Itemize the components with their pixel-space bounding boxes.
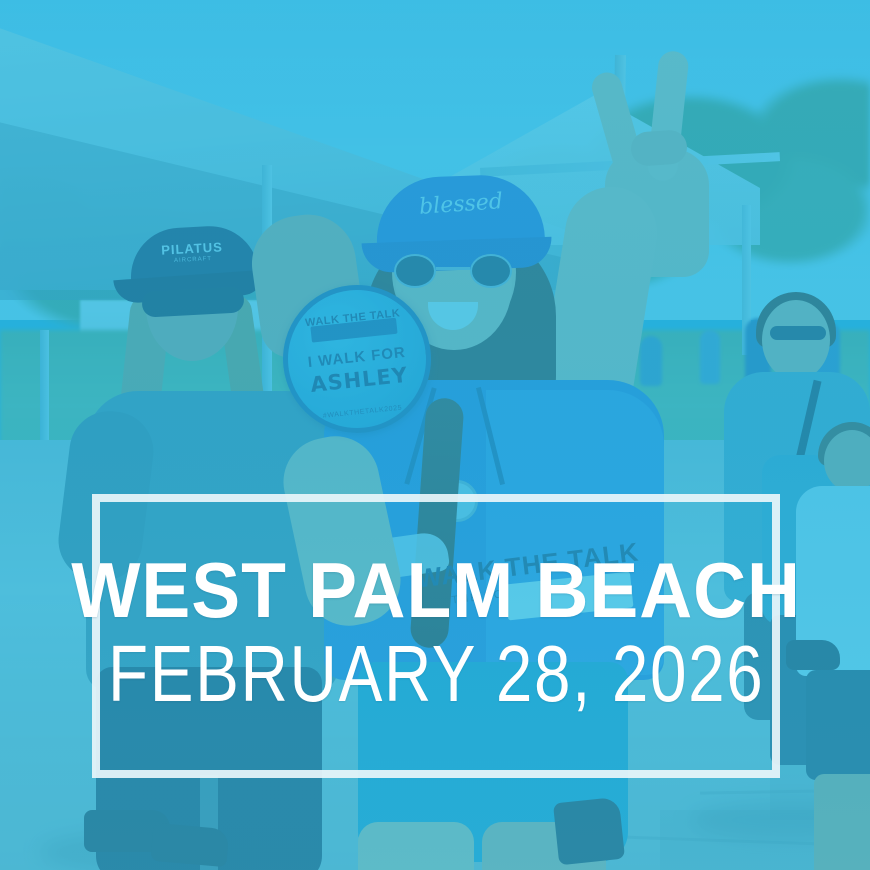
- event-promo-card: PILATUS AIRCRAFT blessed: [0, 0, 870, 870]
- event-banner-frame: WEST PALM BEACH FEBRUARY 28, 2026: [92, 494, 780, 778]
- event-location: WEST PALM BEACH: [71, 555, 801, 627]
- event-date: FEBRUARY 28, 2026: [108, 635, 764, 713]
- event-banner-content: WEST PALM BEACH FEBRUARY 28, 2026: [100, 502, 772, 770]
